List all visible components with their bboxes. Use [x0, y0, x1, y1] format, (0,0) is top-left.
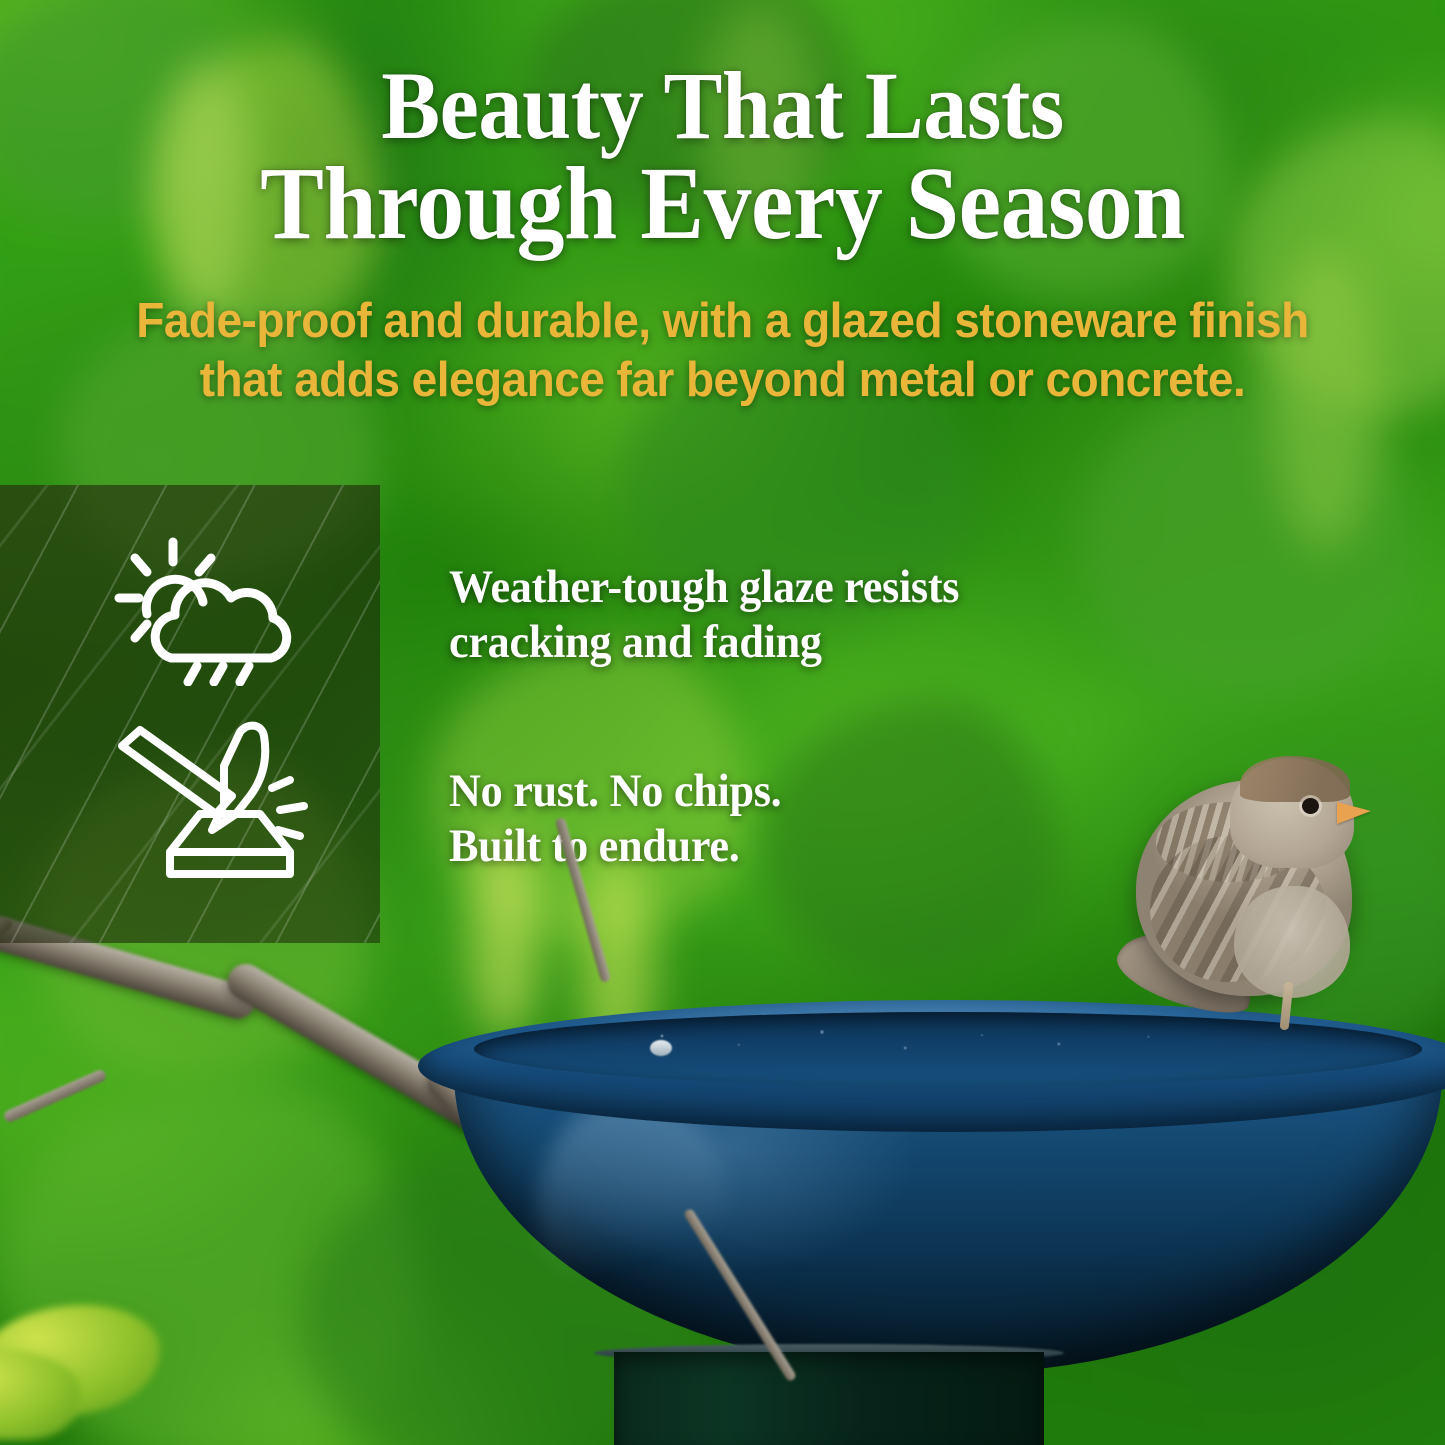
water-droplet — [650, 1040, 672, 1056]
feature-2-line-2: Built to endure. — [449, 819, 781, 874]
bath-highlight — [538, 1096, 728, 1316]
branch-twig — [2, 1068, 107, 1124]
subtitle-line-1: Fade-proof and durable, with a glazed st… — [68, 292, 1377, 351]
headline-line-2: Through Every Season — [95, 153, 1351, 256]
feature-1-line-1: Weather-tough glaze resists — [449, 560, 959, 615]
feature-1-text: Weather-tough glaze resists cracking and… — [449, 560, 959, 669]
hammer-anvil-icon — [112, 718, 322, 883]
sparrow — [1122, 744, 1407, 1044]
headline-line-1: Beauty That Lasts — [95, 58, 1351, 153]
feature-2-line-1: No rust. No chips. — [449, 764, 781, 819]
feature-1-line-2: cracking and fading — [449, 615, 959, 670]
bird-belly — [1234, 886, 1350, 998]
bird-beak — [1337, 802, 1371, 824]
bird-crown — [1240, 756, 1350, 802]
bath-pedestal — [614, 1352, 1044, 1445]
feature-2-text: No rust. No chips. Built to endure. — [449, 764, 781, 873]
subtitle-line-2: that adds elegance far beyond metal or c… — [68, 351, 1377, 410]
page-title: Beauty That Lasts Through Every Season — [58, 58, 1387, 256]
sun-cloud-rain-icon — [108, 536, 318, 686]
page-subtitle: Fade-proof and durable, with a glazed st… — [43, 292, 1401, 410]
bird-bath — [418, 1000, 1445, 1445]
product-marketing-poster: Beauty That Lasts Through Every Season F… — [0, 0, 1445, 1445]
bird-eye — [1302, 798, 1319, 814]
